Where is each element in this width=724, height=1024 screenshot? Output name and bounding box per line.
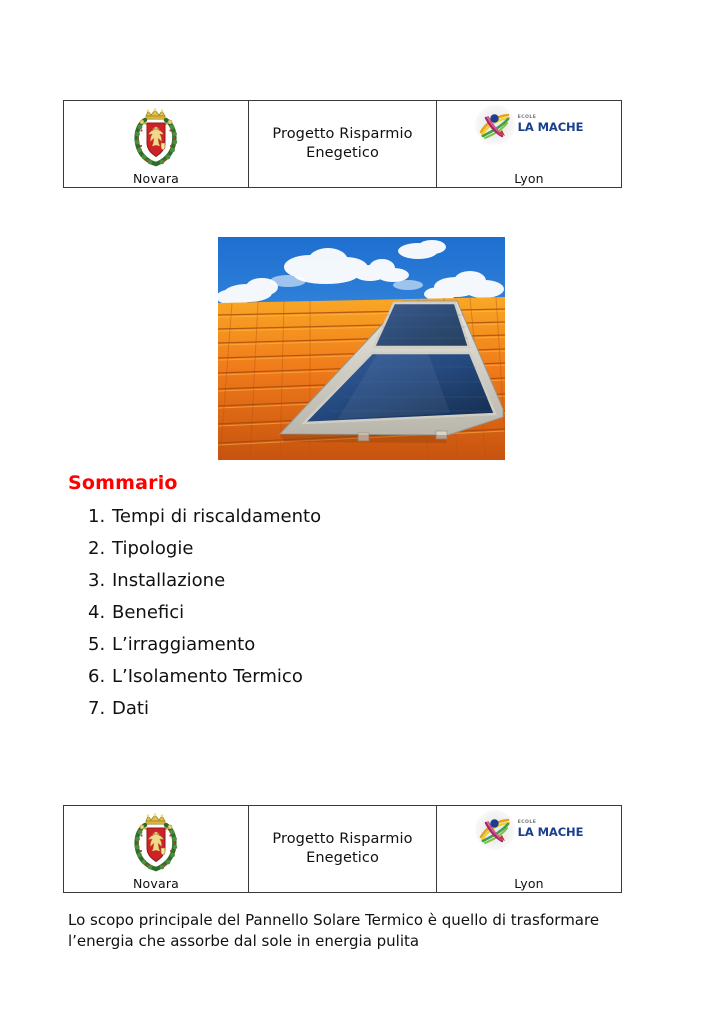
- lyon-caption: Lyon: [437, 171, 621, 186]
- list-item-label: Benefici: [112, 597, 184, 629]
- list-item-number: 4.: [88, 597, 112, 629]
- la-mache-name-label: LA MACHE: [518, 827, 584, 839]
- list-item: 2. Tipologie: [88, 533, 321, 565]
- novara-caption: Novara: [64, 171, 248, 186]
- list-item-number: 5.: [88, 629, 112, 661]
- la-mache-wordmark: ECOLE LA MACHE: [518, 116, 584, 133]
- closing-paragraph: Lo scopo principale del Pannello Solare …: [68, 910, 608, 953]
- footer-identity-table: Novara Progetto Risparmio Enegetico: [63, 805, 622, 893]
- list-item: 4. Benefici: [88, 597, 321, 629]
- list-item: 7. Dati: [88, 693, 321, 725]
- project-title: Progetto Risparmio Enegetico: [272, 125, 412, 163]
- footer-title-cell: Progetto Risparmio Enegetico: [249, 806, 437, 892]
- list-item-label: Installazione: [112, 565, 225, 597]
- project-title-line-2: Enegetico: [306, 850, 379, 866]
- la-mache-name-label: LA MACHE: [518, 122, 584, 134]
- project-title-line-2: Enegetico: [306, 145, 379, 161]
- header-lyon-cell: ECOLE LA MACHE Lyon: [437, 101, 621, 187]
- la-mache-logo: ECOLE LA MACHE: [475, 810, 584, 850]
- list-item-number: 2.: [88, 533, 112, 565]
- la-mache-wordmark: ECOLE LA MACHE: [518, 821, 584, 838]
- novara-coat-of-arms-icon: [128, 810, 184, 872]
- list-item-number: 7.: [88, 693, 112, 725]
- la-mache-swoosh-icon: [475, 810, 515, 850]
- header-identity-table: Novara Progetto Risparmio Enegetico: [63, 100, 622, 188]
- lyon-caption: Lyon: [437, 876, 621, 891]
- list-item: 3. Installazione: [88, 565, 321, 597]
- list-item-number: 1.: [88, 501, 112, 533]
- footer-lyon-cell: ECOLE LA MACHE Lyon: [437, 806, 621, 892]
- list-item-label: L’Isolamento Termico: [112, 661, 303, 693]
- header-novara-cell: Novara: [64, 101, 249, 187]
- sommario-list: 1. Tempi di riscaldamento 2. Tipologie 3…: [88, 501, 321, 725]
- list-item-label: Tipologie: [112, 533, 193, 565]
- list-item: 6. L’Isolamento Termico: [88, 661, 321, 693]
- solar-panel-illustration: [218, 237, 505, 460]
- list-item: 1. Tempi di riscaldamento: [88, 501, 321, 533]
- novara-coat-of-arms-icon: [128, 105, 184, 167]
- list-item-number: 6.: [88, 661, 112, 693]
- list-item-label: L’irraggiamento: [112, 629, 255, 661]
- list-item-label: Tempi di riscaldamento: [112, 501, 321, 533]
- project-title: Progetto Risparmio Enegetico: [272, 830, 412, 868]
- la-mache-swoosh-icon: [475, 105, 515, 145]
- novara-caption: Novara: [64, 876, 248, 891]
- sommario-heading: Sommario: [68, 472, 178, 494]
- list-item: 5. L’irraggiamento: [88, 629, 321, 661]
- project-title-line-1: Progetto Risparmio: [272, 126, 412, 142]
- list-item-number: 3.: [88, 565, 112, 597]
- list-item-label: Dati: [112, 693, 149, 725]
- solar-panel-photo: [218, 237, 505, 460]
- la-mache-logo: ECOLE LA MACHE: [475, 105, 584, 145]
- project-title-line-1: Progetto Risparmio: [272, 831, 412, 847]
- footer-novara-cell: Novara: [64, 806, 249, 892]
- header-title-cell: Progetto Risparmio Enegetico: [249, 101, 437, 187]
